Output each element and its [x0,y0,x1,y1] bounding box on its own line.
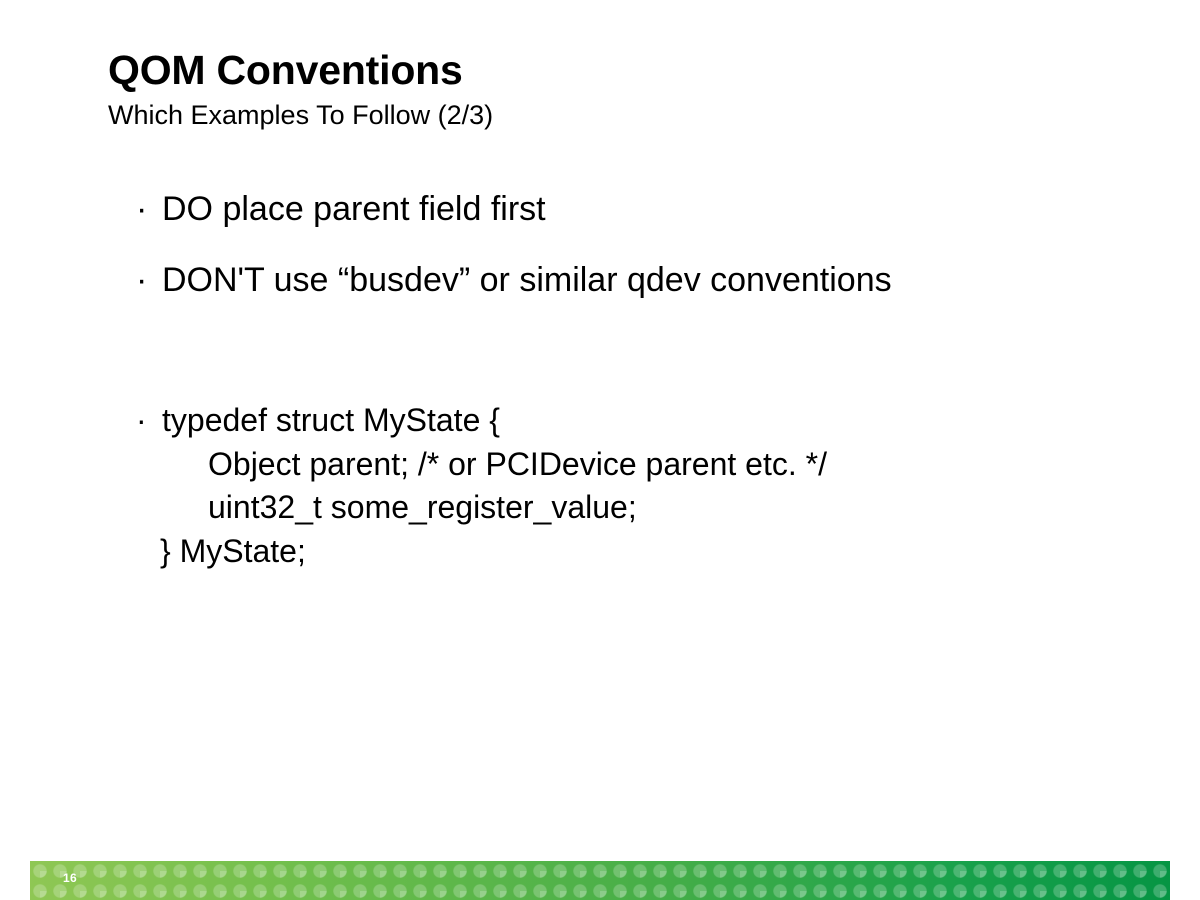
code-line-struct-close: } MyState; [160,530,1166,574]
title-block: QOM Conventions Which Examples To Follow… [108,48,1128,131]
code-line-parent-field: Object parent; /* or PCIDevice parent et… [162,443,1166,487]
footer-bar: 16 [30,861,1170,900]
list-item-text: DON'T use “busdev” or similar qdev conve… [162,259,1166,302]
list-item-text: DO place parent field first [162,188,1166,231]
list-item: · DON'T use “busdev” or similar qdev con… [136,259,1166,302]
code-list-item: · typedef struct MyState { Object parent… [136,399,1166,573]
content-spacer [136,329,1166,399]
slide-canvas: QOM Conventions Which Examples To Follow… [0,0,1200,900]
page-subtitle: Which Examples To Follow (2/3) [108,100,1128,131]
list-item: · DO place parent field first [136,188,1166,231]
bullet-dot-icon: · [136,259,162,302]
page-number: 16 [63,872,77,884]
bullet-dot-icon: · [136,188,162,231]
slide-body: · DO place parent field first · DON'T us… [136,188,1166,573]
code-line-struct-open: typedef struct MyState { [162,399,1166,443]
code-snippet: typedef struct MyState { Object parent; … [162,399,1166,573]
page-title: QOM Conventions [108,48,1128,94]
bullet-dot-icon: · [136,399,162,443]
code-line-register-field: uint32_t some_register_value; [162,486,1166,530]
